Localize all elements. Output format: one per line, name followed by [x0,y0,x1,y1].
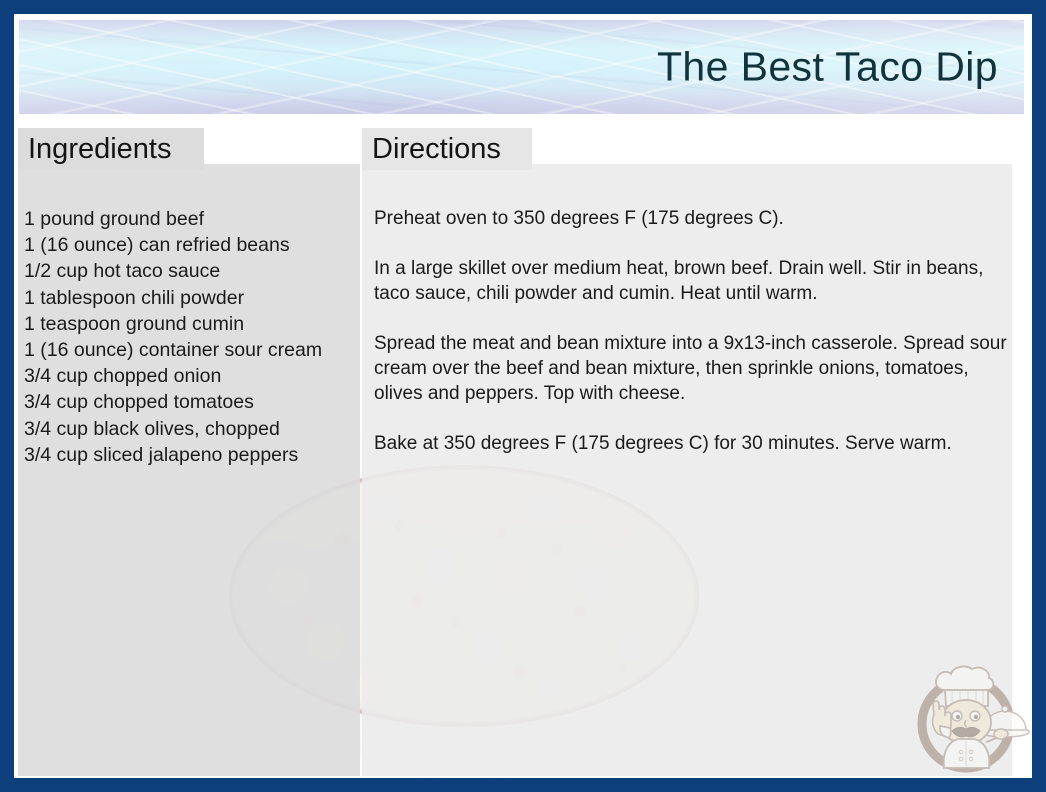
recipe-slide: The Best Taco Dip Ingredients Directions… [0,0,1046,792]
list-item: 1 tablespoon chili powder [24,285,364,311]
list-item: 1/2 cup hot taco sauce [24,258,364,284]
list-item: 1 (16 ounce) container sour cream [24,337,364,363]
direction-step: Preheat oven to 350 degrees F (175 degre… [374,206,1020,231]
page-title: The Best Taco Dip [657,44,998,91]
slide-border-top [0,0,1046,14]
ingredients-list: 1 pound ground beef 1 (16 ounce) can ref… [24,206,364,468]
directions-text: Preheat oven to 350 degrees F (175 degre… [374,206,1020,456]
title-banner: The Best Taco Dip [19,20,1024,114]
list-item: 3/4 cup sliced jalapeno peppers [24,442,364,468]
list-item: 3/4 cup chopped onion [24,363,364,389]
list-item: 3/4 cup black olives, chopped [24,416,364,442]
ingredients-heading-tab: Ingredients [18,128,204,170]
slide-border-bottom [0,778,1046,792]
direction-step: In a large skillet over medium heat, bro… [374,256,1020,306]
slide-border-left [0,0,14,792]
list-item: 1 teaspoon ground cumin [24,311,364,337]
ingredients-heading-label: Ingredients [28,133,172,166]
directions-heading-tab: Directions [362,128,532,170]
direction-step: Spread the meat and bean mixture into a … [374,331,1020,406]
slide-border-right [1032,0,1046,792]
slide-content-area: The Best Taco Dip Ingredients Directions… [14,14,1032,778]
directions-heading-label: Directions [372,133,501,166]
direction-step: Bake at 350 degrees F (175 degrees C) fo… [374,431,1020,456]
list-item: 3/4 cup chopped tomatoes [24,389,364,415]
list-item: 1 (16 ounce) can refried beans [24,232,364,258]
list-item: 1 pound ground beef [24,206,364,232]
